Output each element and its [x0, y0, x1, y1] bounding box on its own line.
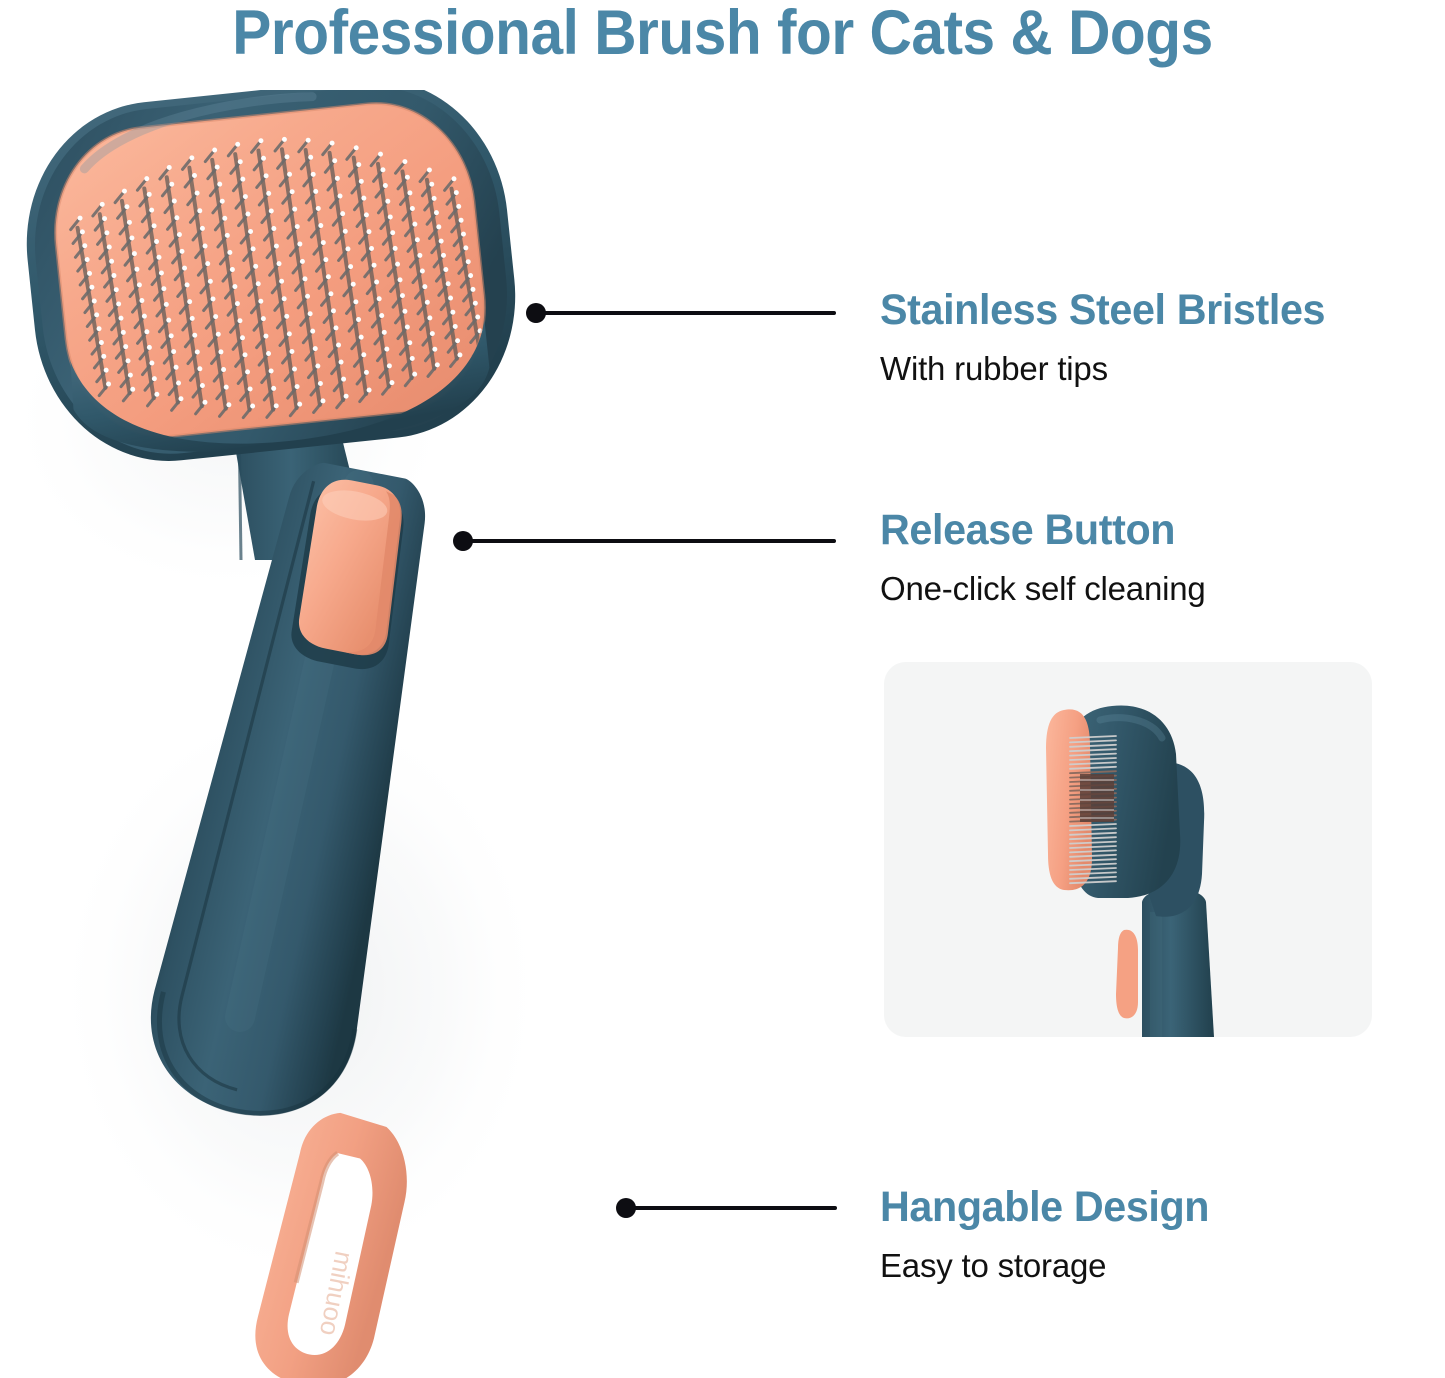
callout-dot-bristles — [526, 303, 546, 323]
feature-bristles-title: Stainless Steel Bristles — [880, 288, 1325, 333]
brush-head — [12, 90, 529, 474]
callout-dot-hangable — [616, 1198, 636, 1218]
callout-line-release — [466, 539, 836, 543]
inset-side-view-illustration — [884, 662, 1372, 1037]
feature-hangable: Hangable Design Easy to storage — [880, 1185, 1223, 1284]
infographic-canvas: Professional Brush for Cats & Dogs — [0, 0, 1445, 1378]
callout-line-hangable — [629, 1206, 837, 1210]
page-title: Professional Brush for Cats & Dogs — [51, 0, 1395, 69]
inset-panel-side-view — [884, 662, 1372, 1037]
feature-release: Release Button One-click self cleaning — [880, 508, 1206, 607]
feature-bristles-subtitle: With rubber tips — [880, 352, 1344, 387]
feature-hangable-subtitle: Easy to storage — [880, 1249, 1223, 1284]
product-illustration: mihuoo — [0, 90, 900, 1378]
inset-bristle-base — [1080, 774, 1114, 822]
callout-line-bristles — [540, 311, 836, 315]
callout-dot-release — [453, 531, 473, 551]
feature-bristles: Stainless Steel Bristles With rubber tip… — [880, 288, 1344, 387]
feature-release-subtitle: One-click self cleaning — [880, 572, 1206, 607]
feature-hangable-title: Hangable Design — [880, 1185, 1209, 1230]
feature-release-title: Release Button — [880, 508, 1193, 553]
inset-release-button — [1116, 930, 1138, 1019]
